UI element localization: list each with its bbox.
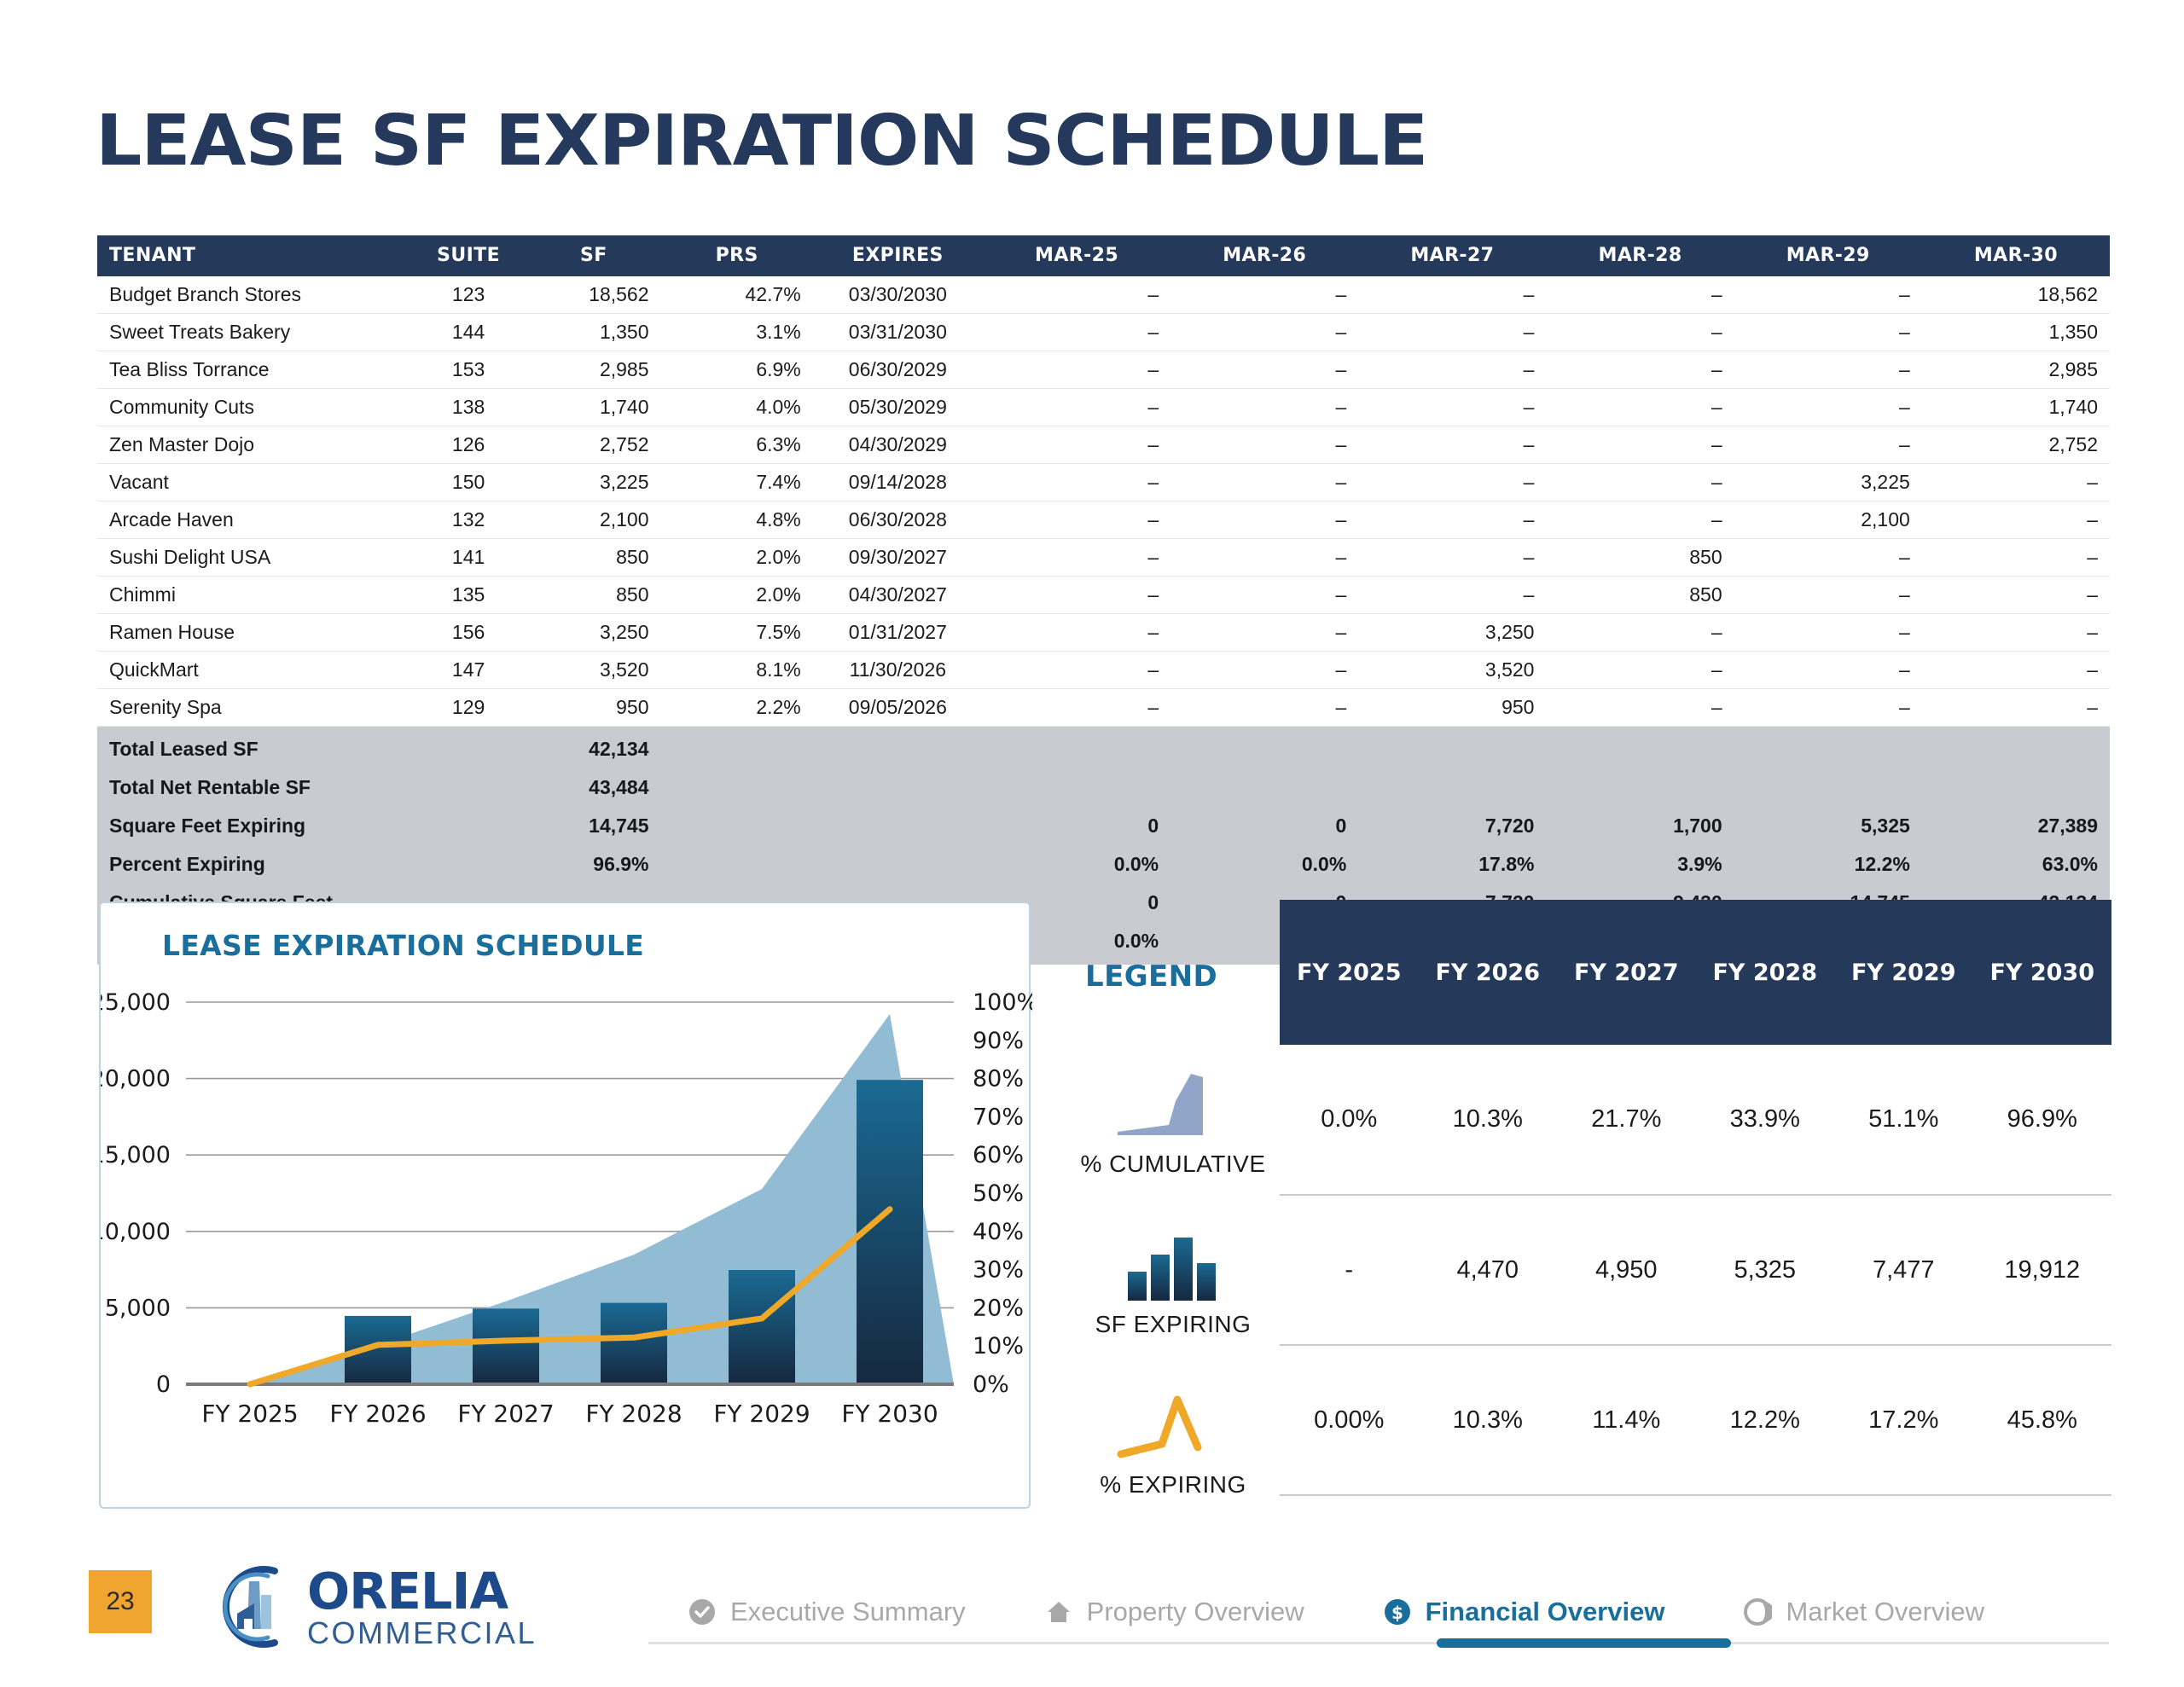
cell-mar-26: – [1170,577,1358,614]
cell-mar-28: – [1546,464,1734,501]
svg-text:$: $ [1391,1603,1403,1623]
nav-label-executive-summary: Executive Summary [730,1597,966,1627]
fy-cell: 10.3% [1419,1045,1558,1195]
cell-suite: 126 [410,426,526,464]
col-header-tenant: TENANT [97,235,410,276]
cell-suite: 132 [410,501,526,539]
cell-mar-26: – [1170,501,1358,539]
summary-mar-27 [1358,727,1546,769]
svg-text:60%: 60% [973,1142,1024,1168]
chart-bar [729,1270,795,1384]
nav-divider [648,1642,2109,1644]
summary-suite [410,727,526,769]
fy-cell: 19,912 [1973,1195,2112,1345]
cell-mar-30: – [1922,577,2110,614]
svg-text:0%: 0% [973,1371,1009,1398]
cell-mar-29: – [1734,351,1922,389]
cell-sf: 3,250 [526,614,660,652]
summary-suite [410,768,526,807]
summary-mar-25: 0.0% [983,845,1170,884]
summary-suite [410,807,526,845]
cell-tenant: Chimmi [97,577,410,614]
cell-expires: 01/31/2027 [813,614,983,652]
cell-tenant: Vacant [97,464,410,501]
nav-item-property-overview[interactable]: Property Overview [1005,1597,1344,1627]
summary-mar-28 [1546,727,1734,769]
cell-sf: 2,100 [526,501,660,539]
svg-text:FY 2029: FY 2029 [713,1400,810,1428]
cell-mar-27: 3,520 [1358,652,1546,689]
summary-mar-27: 7,720 [1358,807,1546,845]
summary-sf: 43,484 [526,768,660,807]
legend-list: % CUMULATIVE SF EXPIRING % EXPIRING [1058,1062,1288,1543]
summary-mar-30: 63.0% [1922,845,2110,884]
cell-expires: 06/30/2028 [813,501,983,539]
summary-expires [813,807,983,845]
cell-mar-27: 950 [1358,689,1546,727]
summary-mar-25: 0 [983,807,1170,845]
cell-prs: 8.1% [661,652,813,689]
svg-text:5,000: 5,000 [105,1295,171,1321]
col-header-sf: SF [526,235,660,276]
summary-mar-27: 17.8% [1358,845,1546,884]
cell-prs: 2.2% [661,689,813,727]
col-header-expires: EXPIRES [813,235,983,276]
fy-summary-table: FY 2025 FY 2026 FY 2027 FY 2028 FY 2029 … [1280,900,2111,1496]
nav-label-market-overview: Market Overview [1786,1597,1984,1627]
cell-tenant: Serenity Spa [97,689,410,727]
logo-sub-text: COMMERCIAL [307,1618,537,1649]
svg-text:0: 0 [156,1371,171,1398]
cell-sf: 3,520 [526,652,660,689]
chart-bar [473,1308,539,1384]
cell-mar-28: – [1546,689,1734,727]
cell-mar-28: 850 [1546,577,1734,614]
svg-text:FY 2028: FY 2028 [585,1400,682,1428]
cell-mar-29: – [1734,389,1922,426]
svg-text:70%: 70% [973,1104,1024,1130]
cell-prs: 3.1% [661,314,813,351]
cell-sf: 3,225 [526,464,660,501]
svg-text:100%: 100% [973,989,1032,1016]
cell-suite: 135 [410,577,526,614]
fy-cell: 0.0% [1280,1045,1419,1195]
cell-suite: 141 [410,539,526,577]
cell-tenant: Arcade Haven [97,501,410,539]
table-row: Zen Master Dojo1262,7526.3%04/30/2029–––… [97,426,2110,464]
summary-expires [813,727,983,769]
table-row: Community Cuts1381,7404.0%05/30/2029––––… [97,389,2110,426]
summary-label: Total Net Rentable SF [97,768,410,807]
cell-mar-25: – [983,501,1170,539]
cell-mar-30: – [1922,614,2110,652]
legend-title: LEGEND [1085,959,1217,994]
cell-expires: 09/14/2028 [813,464,983,501]
page-number-badge: 23 [89,1570,152,1633]
cell-prs: 6.3% [661,426,813,464]
summary-suite [410,845,526,884]
svg-text:50%: 50% [973,1180,1024,1207]
cell-mar-30: 1,740 [1922,389,2110,426]
table-row: Vacant1503,2257.4%09/14/2028––––3,225– [97,464,2110,501]
cell-mar-29: 2,100 [1734,501,1922,539]
summary-mar-28: 1,700 [1546,807,1734,845]
cell-prs: 7.5% [661,614,813,652]
cell-mar-30: 1,350 [1922,314,2110,351]
summary-mar-29 [1734,768,1922,807]
home-icon [1044,1597,1073,1626]
legend-item-pct-expiring: % EXPIRING [1058,1383,1288,1543]
summary-mar-26 [1170,727,1358,769]
cell-mar-30: – [1922,501,2110,539]
cell-prs: 2.0% [661,577,813,614]
summary-mar-25 [983,727,1170,769]
cell-expires: 03/30/2030 [813,276,983,314]
table-row: Serenity Spa1299502.2%09/05/2026––950––– [97,689,2110,727]
cell-suite: 144 [410,314,526,351]
fy-col-2029: FY 2029 [1834,900,1973,1045]
cell-mar-25: – [983,351,1170,389]
summary-mar-29: 5,325 [1734,807,1922,845]
cell-mar-28: – [1546,276,1734,314]
fy-cell: 51.1% [1834,1045,1973,1195]
cell-sf: 18,562 [526,276,660,314]
cell-sf: 850 [526,577,660,614]
cell-sf: 850 [526,539,660,577]
cell-mar-26: – [1170,276,1358,314]
fy-cell: 33.9% [1696,1045,1835,1195]
cell-mar-29: – [1734,426,1922,464]
col-header-suite: SUITE [410,235,526,276]
summary-prs [661,727,813,769]
cell-prs: 4.8% [661,501,813,539]
fy-cell: 12.2% [1696,1345,1835,1495]
cell-expires: 05/30/2029 [813,389,983,426]
legend-label-pct-expiring: % EXPIRING [1058,1471,1288,1499]
fy-cell: 5,325 [1696,1195,1835,1345]
chart-bar [601,1303,667,1384]
cell-tenant: Community Cuts [97,389,410,426]
svg-text:FY 2030: FY 2030 [841,1400,938,1428]
svg-text:20%: 20% [973,1295,1024,1321]
cell-prs: 2.0% [661,539,813,577]
cell-mar-30: – [1922,539,2110,577]
cell-mar-27: 3,250 [1358,614,1546,652]
cell-expires: 03/31/2030 [813,314,983,351]
table-row: Arcade Haven1322,1004.8%06/30/2028––––2,… [97,501,2110,539]
summary-sf: 96.9% [526,845,660,884]
svg-text:80%: 80% [973,1066,1024,1093]
cell-mar-25: – [983,652,1170,689]
svg-text:15,000: 15,000 [101,1142,171,1168]
cell-mar-27: – [1358,314,1546,351]
logo-wordmark: ORELIA COMMERCIAL [307,1566,537,1649]
cell-mar-30: – [1922,464,2110,501]
chart-svg: 05,00010,00015,00020,00025,000 0%10%20%3… [101,977,1032,1505]
col-header-mar-26: MAR-26 [1170,235,1358,276]
cell-mar-29: – [1734,652,1922,689]
cell-expires: 09/30/2027 [813,539,983,577]
cell-mar-29: – [1734,314,1922,351]
summary-mar-26: 0 [1170,807,1358,845]
cell-mar-27: – [1358,539,1546,577]
cell-suite: 150 [410,464,526,501]
cell-sf: 2,985 [526,351,660,389]
svg-text:20,000: 20,000 [101,1066,171,1093]
cell-mar-30: – [1922,689,2110,727]
fy-cell: - [1280,1195,1419,1345]
legend-label-sf-expiring: SF EXPIRING [1058,1311,1288,1338]
nav-label-financial-overview: Financial Overview [1426,1597,1665,1627]
cell-suite: 129 [410,689,526,727]
svg-text:FY 2027: FY 2027 [457,1400,554,1428]
cell-mar-25: – [983,464,1170,501]
cumulative-area-series [186,1014,954,1384]
summary-prs [661,768,813,807]
fy-col-2028: FY 2028 [1696,900,1835,1045]
cell-mar-28: – [1546,501,1734,539]
table-row: Ramen House1563,2507.5%01/31/2027––3,250… [97,614,2110,652]
cell-mar-25: – [983,426,1170,464]
cell-mar-27: – [1358,351,1546,389]
nav-active-indicator [1437,1638,1731,1648]
cell-mar-28: – [1546,614,1734,652]
cell-mar-26: – [1170,652,1358,689]
cell-mar-25: – [983,577,1170,614]
cell-mar-25: – [983,389,1170,426]
orelia-logo-icon [212,1562,302,1651]
legend-label-cumulative: % CUMULATIVE [1058,1151,1288,1178]
summary-mar-29 [1734,727,1922,769]
cell-mar-29: 3,225 [1734,464,1922,501]
table-row: Tea Bliss Torrance1532,9856.9%06/30/2029… [97,351,2110,389]
fy-col-2025: FY 2025 [1280,900,1419,1045]
summary-mar-25 [983,768,1170,807]
cell-tenant: Tea Bliss Torrance [97,351,410,389]
nav-item-market-overview[interactable]: Market Overview [1704,1597,2024,1627]
cell-sf: 1,350 [526,314,660,351]
cell-mar-25: – [983,539,1170,577]
cell-expires: 09/05/2026 [813,689,983,727]
cell-mar-27: – [1358,389,1546,426]
cell-mar-30: 2,752 [1922,426,2110,464]
fy-row-pct_expiring: 0.00%10.3%11.4%12.2%17.2%45.8% [1280,1345,2111,1495]
svg-text:90%: 90% [973,1028,1024,1054]
cell-mar-29: – [1734,577,1922,614]
table-row: QuickMart1473,5208.1%11/30/2026––3,520––… [97,652,2110,689]
col-header-mar-27: MAR-27 [1358,235,1546,276]
fy-cell: 4,470 [1419,1195,1558,1345]
summary-row: Percent Expiring96.9%0.0%0.0%17.8%3.9%12… [97,845,2110,884]
cell-mar-25: – [983,276,1170,314]
summary-mar-28 [1546,768,1734,807]
cell-tenant: Budget Branch Stores [97,276,410,314]
cell-mar-27: – [1358,464,1546,501]
cell-suite: 153 [410,351,526,389]
table-row: Sushi Delight USA1418502.0%09/30/2027–––… [97,539,2110,577]
summary-label: Square Feet Expiring [97,807,410,845]
summary-mar-28: 3.9% [1546,845,1734,884]
chart-title: LEASE EXPIRATION SCHEDULE [162,929,644,962]
cell-mar-27: – [1358,577,1546,614]
col-header-mar-29: MAR-29 [1734,235,1922,276]
summary-row: Square Feet Expiring14,745007,7201,7005,… [97,807,2110,845]
legend-item-sf-expiring: SF EXPIRING [1058,1222,1288,1383]
fy-cell: 21.7% [1557,1045,1696,1195]
cell-mar-30: 18,562 [1922,276,2110,314]
cell-mar-26: – [1170,689,1358,727]
page-title: LEASE SF EXPIRATION SCHEDULE [96,101,1427,182]
section-nav: Executive Summary Property Overview $ Fi… [648,1597,2024,1627]
cell-tenant: Ramen House [97,614,410,652]
svg-text:FY 2025: FY 2025 [201,1400,298,1428]
cell-mar-28: – [1546,351,1734,389]
dollar-circle-icon: $ [1383,1597,1412,1626]
svg-text:40%: 40% [973,1219,1024,1245]
fy-cell: 11.4% [1557,1345,1696,1495]
cell-mar-26: – [1170,464,1358,501]
area-chart-icon [1058,1062,1288,1144]
cell-mar-28: – [1546,389,1734,426]
cell-expires: 04/30/2029 [813,426,983,464]
cell-mar-27: – [1358,426,1546,464]
cell-tenant: Sweet Treats Bakery [97,314,410,351]
cell-tenant: QuickMart [97,652,410,689]
cell-prs: 6.9% [661,351,813,389]
cell-mar-29: – [1734,614,1922,652]
cell-mar-25: – [983,614,1170,652]
fy-cell: 0.00% [1280,1345,1419,1495]
cell-sf: 950 [526,689,660,727]
cell-mar-27: – [1358,276,1546,314]
cell-suite: 138 [410,389,526,426]
cell-expires: 04/30/2027 [813,577,983,614]
fy-row-sf_expiring: -4,4704,9505,3257,47719,912 [1280,1195,2111,1345]
svg-text:FY 2026: FY 2026 [329,1400,426,1428]
cell-prs: 42.7% [661,276,813,314]
summary-sf: 42,134 [526,727,660,769]
table-row: Budget Branch Stores12318,56242.7%03/30/… [97,276,2110,314]
fy-cell: 10.3% [1419,1345,1558,1495]
summary-label: Percent Expiring [97,845,410,884]
col-header-mar-28: MAR-28 [1546,235,1734,276]
summary-mar-26 [1170,768,1358,807]
table-row: Chimmi1358502.0%04/30/2027–––850–– [97,577,2110,614]
cell-mar-30: – [1922,652,2110,689]
cell-mar-29: – [1734,539,1922,577]
summary-expires [813,845,983,884]
cell-mar-26: – [1170,314,1358,351]
summary-mar-30 [1922,768,2110,807]
cell-mar-25: – [983,314,1170,351]
check-circle-icon [688,1597,717,1626]
cell-sf: 2,752 [526,426,660,464]
svg-text:25,000: 25,000 [101,989,171,1016]
summary-row: Total Net Rentable SF43,484 [97,768,2110,807]
cell-mar-27: – [1358,501,1546,539]
cell-suite: 156 [410,614,526,652]
cell-sf: 1,740 [526,389,660,426]
fy-col-2030: FY 2030 [1973,900,2112,1045]
fy-cell: 4,950 [1557,1195,1696,1345]
summary-mar-27 [1358,768,1546,807]
fy-row-cumulative: 0.0%10.3%21.7%33.9%51.1%96.9% [1280,1045,2111,1195]
nav-item-executive-summary[interactable]: Executive Summary [648,1597,1005,1627]
fy-col-2027: FY 2027 [1557,900,1696,1045]
nav-item-financial-overview[interactable]: $ Financial Overview [1344,1597,1705,1627]
cell-prs: 4.0% [661,389,813,426]
cell-mar-28: 850 [1546,539,1734,577]
col-header-mar-25: MAR-25 [983,235,1170,276]
summary-mar-30 [1922,727,2110,769]
cell-mar-29: – [1734,689,1922,727]
chart-plot-area: 05,00010,00015,00020,00025,000 0%10%20%3… [101,977,1032,1505]
cell-expires: 11/30/2026 [813,652,983,689]
fy-col-2026: FY 2026 [1419,900,1558,1045]
cell-suite: 147 [410,652,526,689]
table-header-row: TENANT SUITE SF PRS EXPIRES MAR-25 MAR-2… [97,235,2110,276]
cell-tenant: Zen Master Dojo [97,426,410,464]
cell-mar-28: – [1546,652,1734,689]
cell-mar-26: – [1170,426,1358,464]
nav-label-property-overview: Property Overview [1087,1597,1304,1627]
summary-row: Total Leased SF42,134 [97,727,2110,769]
cell-suite: 123 [410,276,526,314]
summary-prs [661,845,813,884]
cell-prs: 7.4% [661,464,813,501]
cell-mar-25: – [983,689,1170,727]
fy-cell: 7,477 [1834,1195,1973,1345]
line-chart-icon [1058,1383,1288,1464]
cell-mar-26: – [1170,539,1358,577]
cell-mar-30: 2,985 [1922,351,2110,389]
brand-logo: ORELIA COMMERCIAL [212,1562,537,1651]
globe-icon [1743,1597,1772,1626]
summary-mar-26: 0.0% [1170,845,1358,884]
table-row: Sweet Treats Bakery1441,3503.1%03/31/203… [97,314,2110,351]
fy-cell: 17.2% [1834,1345,1973,1495]
col-header-mar-30: MAR-30 [1922,235,2110,276]
cell-mar-28: – [1546,426,1734,464]
cell-mar-29: – [1734,276,1922,314]
cell-mar-26: – [1170,389,1358,426]
svg-text:10%: 10% [973,1333,1024,1359]
summary-sf: 14,745 [526,807,660,845]
cell-mar-26: – [1170,614,1358,652]
cell-mar-28: – [1546,314,1734,351]
lease-expiration-chart-card: LEASE EXPIRATION SCHEDULE [99,901,1031,1509]
cell-tenant: Sushi Delight USA [97,539,410,577]
summary-mar-30: 27,389 [1922,807,2110,845]
summary-prs [661,807,813,845]
fy-header-row: FY 2025 FY 2026 FY 2027 FY 2028 FY 2029 … [1280,900,2111,1045]
summary-expires [813,768,983,807]
summary-mar-29: 12.2% [1734,845,1922,884]
svg-text:30%: 30% [973,1257,1024,1284]
svg-text:10,000: 10,000 [101,1219,171,1245]
legend-item-cumulative: % CUMULATIVE [1058,1062,1288,1222]
logo-main-text: ORELIA [307,1566,537,1616]
cell-expires: 06/30/2029 [813,351,983,389]
fy-cell: 45.8% [1973,1345,2112,1495]
lease-expiration-table: TENANT SUITE SF PRS EXPIRES MAR-25 MAR-2… [97,235,2110,965]
summary-label: Total Leased SF [97,727,410,769]
cell-mar-26: – [1170,351,1358,389]
fy-cell: 96.9% [1973,1045,2112,1195]
col-header-prs: PRS [661,235,813,276]
bar-chart-icon [1058,1222,1288,1304]
